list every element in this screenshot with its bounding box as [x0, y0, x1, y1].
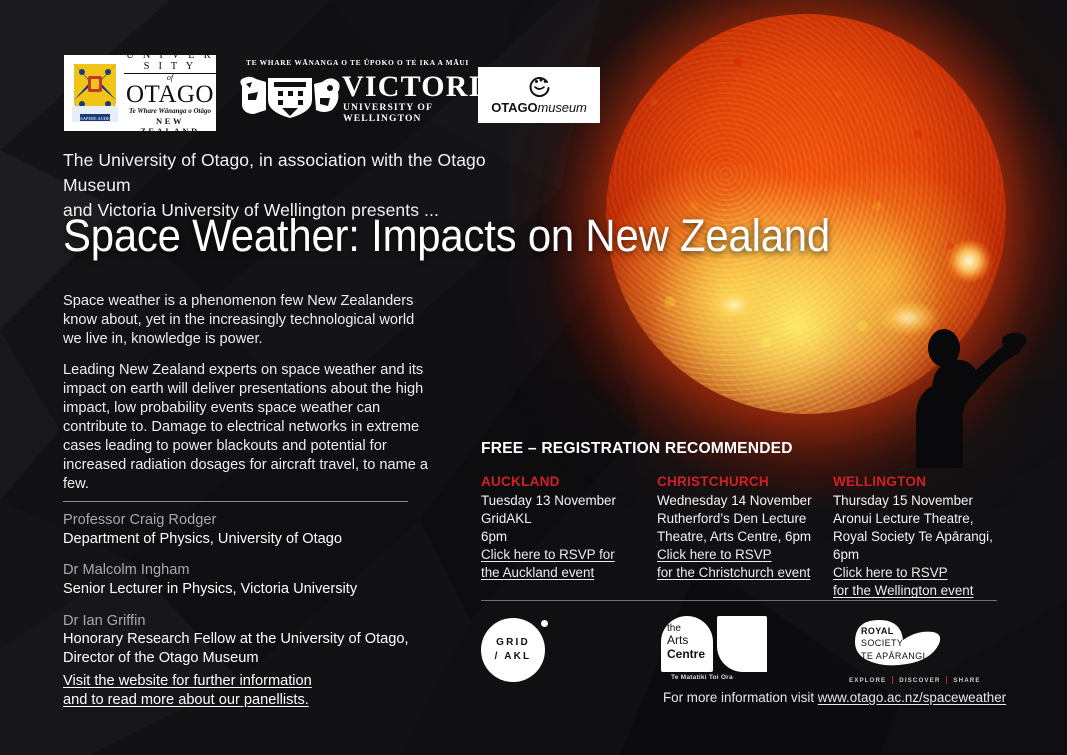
rsvp-line-2: for the Wellington event — [833, 582, 973, 600]
logo-grid-akl: GRID / AKL — [481, 618, 555, 692]
logo-university-of-otago: SAPERE AUDE U N I V E R S I T Y of OTAGO… — [64, 55, 216, 131]
rsvp-line-2: the Auckland event — [481, 564, 594, 582]
event-column-auckland: AUCKLAND Tuesday 13 November GridAKL 6pm… — [481, 474, 657, 601]
museum-word-museum: museum — [537, 100, 586, 115]
royal-tag-share: SHARE — [953, 677, 980, 684]
speaker-role: Honorary Research Fellow at the Universi… — [63, 630, 463, 667]
logo-arts-centre: the Arts Centre Te Matatiki Toi Ora — [661, 616, 779, 690]
speaker-item: Professor Craig Rodger Department of Phy… — [63, 511, 463, 548]
royal-tag-discover: DISCOVER — [899, 677, 940, 684]
arts-centre-shape-icon — [717, 616, 767, 672]
victoria-subtitle: UNIVERSITY OF WELLINGTON — [343, 102, 456, 124]
arts-centre-wordmark: the Arts Centre — [661, 616, 713, 672]
divider-left — [63, 501, 408, 502]
website-link-label: Visit the website for further informatio… — [63, 673, 312, 708]
footer-prefix: For more information visit — [663, 690, 818, 705]
rsvp-link-auckland[interactable]: Click here to RSVP for the Auckland even… — [481, 547, 615, 580]
registration-section: FREE – REGISTRATION RECOMMENDED AUCKLAND… — [481, 440, 1011, 601]
otago-museum-smiley-icon — [527, 75, 551, 97]
museum-word-otago: OTAGO — [491, 100, 537, 115]
speaker-item: Dr Ian Griffin Honorary Research Fellow … — [63, 612, 463, 668]
event-city-christchurch: CHRISTCHURCH — [657, 474, 833, 489]
speaker-name: Dr Malcolm Ingham — [63, 561, 463, 580]
royal-society-line-3: TE APĀRANGI — [861, 650, 925, 662]
speaker-role: Senior Lecturer in Physics, Victoria Uni… — [63, 580, 463, 599]
victoria-maori-line: TE WHARE WĀNANGA O TE ŮPOKO O TE IKA A M… — [246, 58, 469, 67]
grid-akl-dot-icon — [541, 620, 548, 627]
arts-centre-subtitle: Te Matatiki Toi Ora — [671, 674, 733, 681]
poster-title: Space Weather: Impacts on New Zealand — [63, 213, 900, 258]
event-time: 6pm — [481, 528, 657, 546]
body-paragraph-1: Space weather is a phenomenon few New Ze… — [63, 292, 429, 349]
otago-word-otago: OTAGO — [124, 83, 216, 106]
registration-heading: FREE – REGISTRATION RECOMMENDED — [481, 440, 1011, 458]
event-city-wellington: WELLINGTON — [833, 474, 1011, 489]
logo-otago-museum: OTAGOmuseum — [478, 67, 600, 123]
otago-crest-icon: SAPERE AUDE — [70, 62, 120, 124]
arts-centre-line-2: Arts — [667, 634, 713, 647]
speaker-item: Dr Malcolm Ingham Senior Lecturer in Phy… — [63, 561, 463, 598]
grid-akl-line-2: / AKL — [495, 650, 532, 665]
website-link[interactable]: Visit the website for further informatio… — [63, 672, 403, 711]
grid-akl-line-1: GRID — [496, 636, 530, 651]
rsvp-line-1: Click here to RSVP for — [481, 546, 615, 564]
event-date: Thursday 15 November — [833, 492, 1011, 510]
footer-info: For more information visit www.otago.ac.… — [663, 690, 1006, 705]
otago-word-university: U N I V E R S I T Y — [124, 50, 216, 74]
otago-museum-wordmark: OTAGOmuseum — [491, 100, 586, 115]
royal-tag-explore: EXPLORE — [849, 677, 886, 684]
logo-victoria-university: TE WHARE WĀNANGA O TE ŮPOKO O TE IKA A M… — [236, 58, 456, 120]
event-columns: AUCKLAND Tuesday 13 November GridAKL 6pm… — [481, 474, 1011, 601]
event-venue-2: Royal Society Te Apārangi, 6pm — [833, 528, 1011, 564]
event-venue: GridAKL — [481, 510, 657, 528]
speaker-name: Professor Craig Rodger — [63, 511, 463, 530]
speaker-name: Dr Ian Griffin — [63, 612, 463, 631]
rsvp-line-1: Click here to RSVP — [833, 564, 948, 582]
speakers-list: Professor Craig Rodger Department of Phy… — [63, 511, 463, 681]
otago-word-newzealand: NEW ZEALAND — [124, 116, 216, 136]
person-silhouette — [820, 268, 1050, 468]
event-column-wellington: WELLINGTON Thursday 15 November Aronui L… — [833, 474, 1011, 601]
event-venue: Rutherford’s Den Lecture — [657, 510, 833, 528]
otago-word-maori: Te Whare Wānanga o Otāgo — [124, 106, 216, 117]
svg-text:SAPERE AUDE: SAPERE AUDE — [80, 116, 110, 121]
royal-society-tagline: EXPLORE DISCOVER SHARE — [849, 676, 981, 684]
body-copy: Space weather is a phenomenon few New Ze… — [63, 292, 429, 506]
rsvp-line-2: for the Christchurch event — [657, 564, 810, 582]
arts-centre-line-3: Centre — [667, 648, 713, 661]
speaker-role: Department of Physics, University of Ota… — [63, 530, 463, 549]
event-venue: Aronui Lecture Theatre, — [833, 510, 1011, 528]
event-city-auckland: AUCKLAND — [481, 474, 657, 489]
royal-society-wordmark: ROYAL SOCIETY TE APĀRANGI — [861, 625, 925, 662]
logo-royal-society: ROYAL SOCIETY TE APĀRANGI EXPLORE DISCOV… — [847, 616, 997, 690]
otago-wordmark: U N I V E R S I T Y of OTAGO Te Whare Wā… — [124, 50, 216, 136]
footer-url-link[interactable]: www.otago.ac.nz/spaceweather — [818, 690, 1006, 705]
rsvp-link-christchurch[interactable]: Click here to RSVP for the Christchurch … — [657, 547, 810, 580]
rsvp-link-wellington[interactable]: Click here to RSVP for the Wellington ev… — [833, 565, 973, 598]
sponsor-logo-row: GRID / AKL the Arts Centre Te Matatiki T… — [481, 612, 1011, 690]
body-paragraph-2: Leading New Zealand experts on space wea… — [63, 361, 429, 494]
divider-sponsors — [481, 600, 997, 601]
royal-society-line-1: ROYAL — [861, 625, 925, 637]
tag-divider-icon — [946, 676, 947, 684]
grid-akl-circle-icon: GRID / AKL — [481, 618, 545, 682]
event-column-christchurch: CHRISTCHURCH Wednesday 14 November Ruthe… — [657, 474, 833, 601]
poster-canvas: SAPERE AUDE U N I V E R S I T Y of OTAGO… — [0, 0, 1067, 755]
event-date: Tuesday 13 November — [481, 492, 657, 510]
tag-divider-icon — [892, 676, 893, 684]
solar-flare-left-icon — [708, 288, 760, 322]
event-date: Wednesday 14 November — [657, 492, 833, 510]
rsvp-line-1: Click here to RSVP — [657, 546, 772, 564]
event-venue-2: Theatre, Arts Centre, 6pm — [657, 528, 833, 546]
victoria-crest-icon — [236, 70, 344, 120]
royal-society-line-2: SOCIETY — [861, 637, 925, 649]
